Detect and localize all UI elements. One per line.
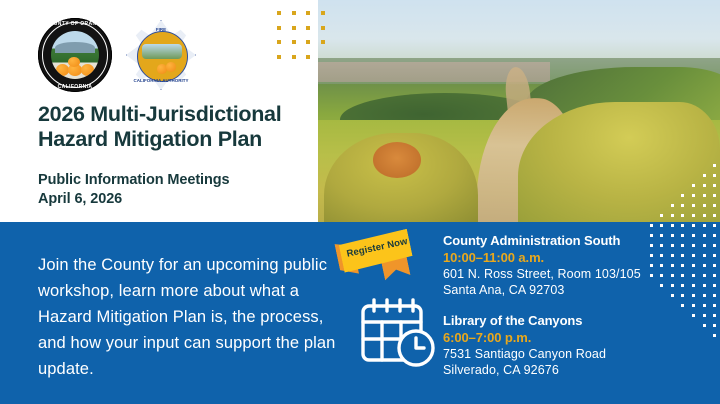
ocfa-top-text: FIRE <box>126 27 196 32</box>
event-venue-name: County Administration South <box>443 232 673 249</box>
page-subtitle-line-2: April 6, 2026 <box>38 190 328 209</box>
ocfa-center-disc <box>137 31 188 82</box>
seal-mountain-shape <box>55 42 95 54</box>
ocfa-landscape-shape <box>142 44 181 59</box>
page-subtitle-line-1: Public Information Meetings <box>38 171 328 190</box>
event-time: 10:00–11:00 a.m. <box>443 249 673 266</box>
event-list: County Administration South 10:00–11:00 … <box>443 232 673 392</box>
seal-landscape-emblem <box>51 31 99 79</box>
hazard-mitigation-plan-flyer: COUNTY OF ORANGE CALIFORNIA FIRE <box>0 0 720 404</box>
seal-top-text: COUNTY OF ORANGE <box>38 21 112 27</box>
event-address-line-1: 601 N. Ross Street, Room 103/105 <box>443 266 673 282</box>
logo-row: COUNTY OF ORANGE CALIFORNIA FIRE <box>38 18 196 92</box>
page-subtitle: Public Information Meetings April 6, 202… <box>38 171 328 208</box>
seal-bottom-text: CALIFORNIA <box>38 84 112 90</box>
orange-fruit-icon <box>68 57 80 67</box>
page-title-line-2: Hazard Mitigation Plan <box>38 127 328 152</box>
event-item: Library of the Canyons 6:00–7:00 p.m. 75… <box>443 312 673 378</box>
register-now-label: Register Now <box>346 236 409 260</box>
ocfa-bottom-text: CALIFORNIA AUTHORITY <box>126 78 196 83</box>
orange-fruit-icon <box>138 32 148 42</box>
ocfa-maltese-cross-icon: FIRE CALIFORNIA AUTHORITY <box>126 20 196 90</box>
county-of-orange-seal-icon: COUNTY OF ORANGE CALIFORNIA <box>38 18 112 92</box>
orange-fruit-icon <box>166 62 176 72</box>
event-address-line-2: Silverado, CA 92676 <box>443 362 673 378</box>
calendar-clock-icon <box>358 298 438 370</box>
event-address-line-1: 7531 Santiago Canyon Road <box>443 346 673 362</box>
orange-fruit-icon <box>56 64 69 76</box>
gold-dot-grid-decoration <box>272 6 330 64</box>
body-paragraph: Join the County for an upcoming public w… <box>38 252 338 382</box>
event-time: 6:00–7:00 p.m. <box>443 329 673 346</box>
event-item: County Administration South 10:00–11:00 … <box>443 232 673 298</box>
page-title: 2026 Multi-Jurisdictional Hazard Mitigat… <box>38 102 328 152</box>
orange-fruit-icon <box>81 64 94 76</box>
photo-orange-shrub <box>373 142 421 178</box>
event-address-line-2: Santa Ana, CA 92703 <box>443 282 673 298</box>
event-venue-name: Library of the Canyons <box>443 312 673 329</box>
seal-oranges-cluster <box>51 54 99 76</box>
page-title-line-1: 2026 Multi-Jurisdictional <box>38 102 328 127</box>
